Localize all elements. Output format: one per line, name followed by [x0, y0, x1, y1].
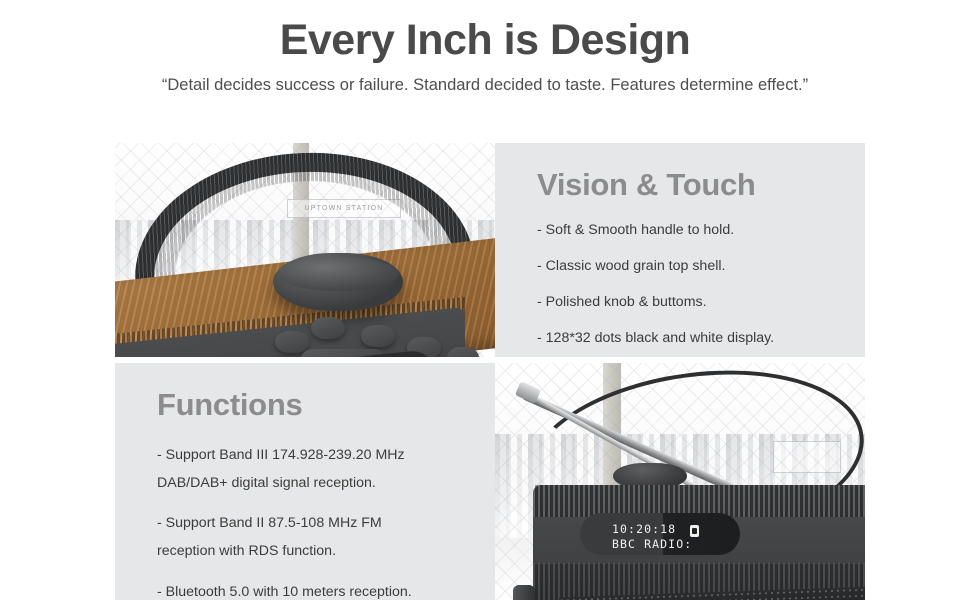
list-item: - Bluetooth 5.0 with 10 meters reception… [157, 579, 495, 600]
side-knob [513, 585, 535, 600]
photo-scene-top-left: UPTOWN STATION 10:20:18 BBC RADIO [115, 143, 495, 357]
lock-icon [690, 525, 699, 537]
functions-panel: Functions - Support Band III 174.928-239… [115, 363, 495, 600]
section-title-vision: Vision & Touch [537, 169, 865, 200]
product-feature-page: Every Inch is Design “Detail decides suc… [0, 0, 970, 600]
photo-scene-bottom-right: inscab 10:20:18 BBC RADIO: [495, 363, 865, 600]
page-subtitle: “Detail decides success or failure. Stan… [0, 65, 970, 98]
feature-row-vision: UPTOWN STATION 10:20:18 BBC RADIO [115, 143, 865, 357]
list-item: - Polished knob & buttoms. [537, 292, 865, 312]
list-item: - 128*32 dots black and white display. [537, 328, 865, 348]
radio-display-station: BBC RADIO: [612, 536, 692, 553]
list-item: - Classic wood grain top shell. [537, 256, 865, 276]
page-title: Every Inch is Design [0, 0, 970, 65]
list-item: - Soft & Smooth handle to hold. [537, 220, 865, 240]
volume-knob [273, 253, 403, 311]
feature-row-functions: Functions - Support Band III 174.928-239… [115, 363, 865, 600]
vision-and-touch-panel: Vision & Touch - Soft & Smooth handle to… [495, 143, 865, 357]
photo-radio-antenna: inscab 10:20:18 BBC RADIO: [495, 363, 865, 600]
list-item: - Support Band III 174.928-239.20 MHz DA… [157, 442, 495, 497]
preset-button-2 [361, 325, 395, 347]
preset-button-5 [447, 347, 479, 357]
photo-radio-top: UPTOWN STATION 10:20:18 BBC RADIO [115, 143, 495, 357]
preset-button-1 [311, 317, 345, 339]
section-title-functions: Functions [157, 389, 495, 420]
list-item: - Support Band II 87.5-108 MHz FM recept… [157, 510, 495, 565]
preset-button-4 [275, 331, 309, 353]
functions-bullet-list: - Support Band III 174.928-239.20 MHz DA… [157, 442, 495, 600]
radio-display-panel: 10:20:18 BBC RADIO: [580, 513, 740, 555]
hero-header: Every Inch is Design “Detail decides suc… [0, 0, 970, 143]
vision-bullet-list: - Soft & Smooth handle to hold. - Classi… [537, 220, 865, 349]
